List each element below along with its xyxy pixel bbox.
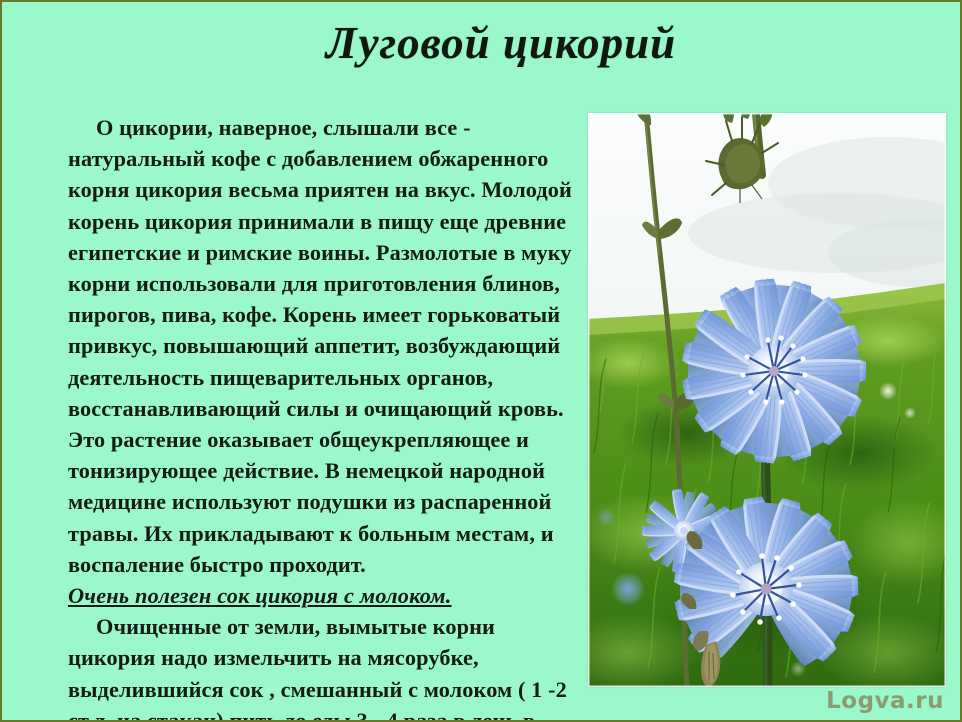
paragraph-emphasis: Очень полезен сок цикория с молоком. (68, 580, 580, 611)
slide-canvas: Луговой цикорий О цикории, наверное, слы… (0, 0, 962, 722)
chicory-flower-photo (588, 113, 946, 687)
paragraph-intro: О цикории, наверное, слышали все - натур… (68, 112, 580, 580)
chicory-flower-illustration (588, 113, 946, 687)
watermark-logva: Logva.ru (826, 688, 944, 714)
paragraph-recipe: Очищенные от земли, вымытые корни цикори… (68, 611, 580, 722)
body-text-column: О цикории, наверное, слышали все - натур… (68, 112, 580, 722)
page-title: Луговой цикорий (2, 20, 960, 67)
